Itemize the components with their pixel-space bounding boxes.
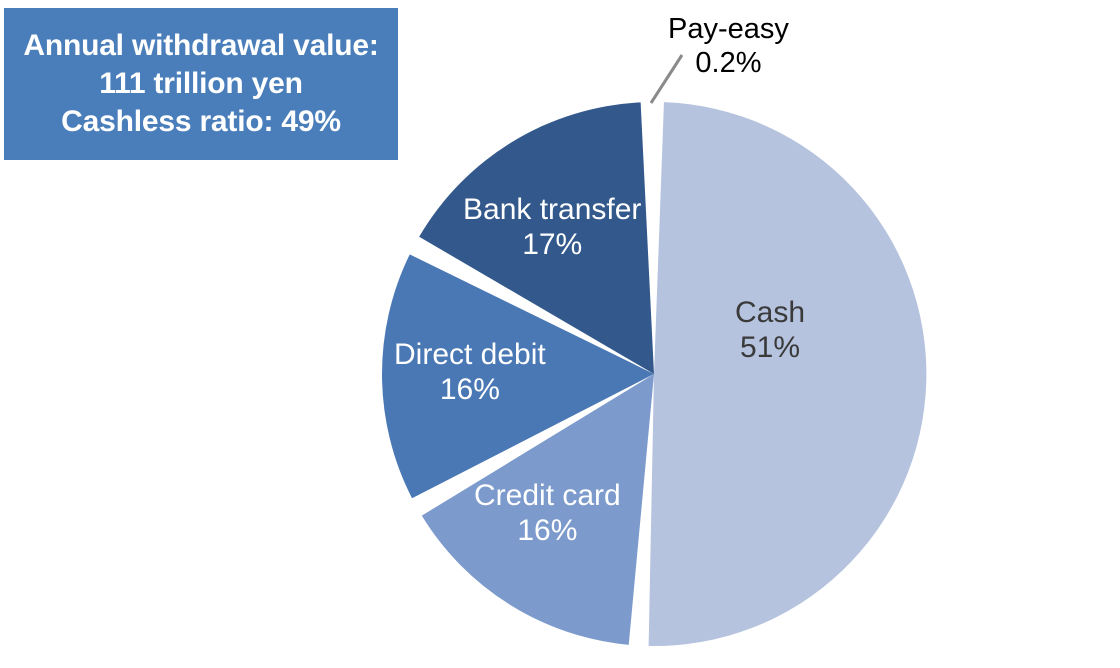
pie-slice-cash[interactable] [649,102,927,646]
pie-slices-group [382,102,926,646]
pie-graphic [0,0,1120,668]
pie-chart-figure: Annual withdrawal value: 111 trillion ye… [0,0,1120,668]
pay-easy-leader-line [651,55,682,103]
